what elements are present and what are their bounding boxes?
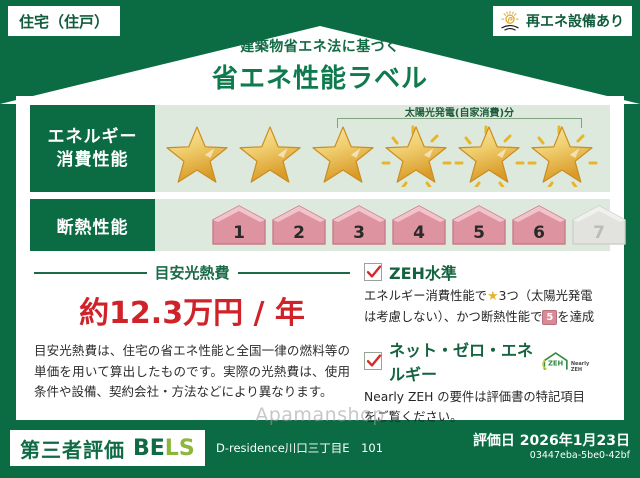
checkmark-icon [364, 263, 382, 281]
insulation-level-1: 1 [210, 204, 268, 246]
net-zero-title: ネット・ゼロ・エネルギー [389, 337, 535, 385]
utility-cost-heading: 目安光熱費 [34, 262, 350, 283]
star-4 [380, 121, 453, 187]
insulation-level-5: 5 [450, 204, 508, 246]
bels-en-part2: LS [165, 436, 195, 461]
insulation-level-3: 3 [330, 204, 388, 246]
insulation-levels-area: 1234567 [155, 199, 610, 251]
zeh-logo-subtext: Nearly ZEH [571, 362, 596, 373]
insulation-level-4: 4 [390, 204, 448, 246]
utility-cost-heading-text: 目安光熱費 [155, 262, 230, 283]
insulation-level-7: 7 [570, 204, 628, 246]
zeh-standard-title: ZEH水準 [389, 260, 457, 284]
rule-left [34, 272, 147, 274]
insulation-level-number: 4 [413, 223, 425, 243]
energy-label-line1: エネルギー [48, 126, 138, 149]
evaluation-date: 評価日 2026年1月23日 [473, 430, 630, 450]
label-body-card: エネルギー 消費性能 太陽光発電(自家消費)分 断熱性能 1234567 [16, 96, 624, 420]
insulation-level-number: 1 [233, 223, 245, 243]
page-title: 建築物省エネ法に基づく 省エネ性能ラベル [0, 36, 640, 95]
star-icon [385, 125, 447, 185]
zeh-house-logo-icon: ZEH Nearly ZEH [542, 349, 596, 373]
bels-logo: 第三者評価 BELS [10, 430, 205, 466]
bels-jp-text: 第三者評価 [20, 434, 125, 463]
star-icon [312, 125, 374, 185]
star-1 [161, 121, 234, 187]
rule-right [238, 272, 351, 274]
solar-bracket-caption: 太陽光発電(自家消費)分 [337, 104, 582, 119]
star-icon [531, 125, 593, 185]
star-6 [526, 121, 599, 187]
zeh-desc-part3: を達成 [557, 310, 594, 324]
title-main: 省エネ性能ラベル [0, 58, 640, 95]
energy-performance-label-cell: エネルギー 消費性能 [30, 105, 155, 192]
energy-performance-label: 住宅（住戸） 再エネ設備あり [0, 0, 640, 478]
bels-en-part1: BE [133, 436, 165, 461]
star-2 [234, 121, 307, 187]
property-name: D-residence川口三丁目E 101 [216, 440, 383, 456]
utility-cost-block: 目安光熱費 約12.3万円 / 年 目安光熱費は、住宅の省エネ性能と全国一律の燃… [34, 262, 350, 403]
inline-level-badge: 5 [542, 310, 557, 325]
star-3 [307, 121, 380, 187]
footer-bar: 第三者評価 BELS D-residence川口三丁目E 101 評価日 202… [0, 422, 640, 478]
energy-performance-row: エネルギー 消費性能 太陽光発電(自家消費)分 [30, 105, 610, 192]
insulation-performance-row: 断熱性能 1234567 [30, 199, 610, 251]
svg-text:ZEH: ZEH [548, 360, 564, 368]
insulation-level-number: 5 [473, 223, 485, 243]
insulation-label: 断熱性能 [57, 213, 129, 238]
insulation-level-number: 2 [293, 223, 305, 243]
bels-en-text: BELS [133, 436, 195, 461]
star-icon [166, 125, 228, 185]
zeh-standard-item: ZEH水準 エネルギー消費性能で★3つ（太陽光発電は考慮しない）、かつ断熱性能で… [364, 260, 596, 327]
insulation-level-6: 6 [510, 204, 568, 246]
insulation-level-2: 2 [270, 204, 328, 246]
star-rating [161, 121, 599, 187]
insulation-level-list: 1234567 [210, 204, 628, 246]
star-5 [453, 121, 526, 187]
energy-label-line2: 消費性能 [57, 149, 129, 172]
zeh-standard-description: エネルギー消費性能で★3つ（太陽光発電は考慮しない）、かつ断熱性能で5を達成 [364, 287, 596, 327]
net-zero-energy-item: ネット・ゼロ・エネルギー ZEH Nearly ZEH Nearly ZEH の… [364, 337, 596, 427]
star-icon [458, 125, 520, 185]
checkmark-icon [364, 352, 382, 370]
insulation-level-number: 7 [593, 223, 605, 243]
zeh-desc-part1: エネルギー消費性能で [364, 289, 487, 303]
inline-star-icon: ★ [487, 289, 499, 304]
star-icon [239, 125, 301, 185]
insulation-level-number: 3 [353, 223, 365, 243]
zeh-standard-title-row: ZEH水準 [364, 260, 596, 284]
insulation-level-number: 6 [533, 223, 545, 243]
utility-cost-note: 目安光熱費は、住宅の省エネ性能と全国一律の燃料等の単価を用いて算出したものです。… [34, 341, 350, 403]
utility-cost-value: 約12.3万円 / 年 [34, 288, 350, 332]
net-zero-title-row: ネット・ゼロ・エネルギー ZEH Nearly ZEH [364, 337, 596, 385]
evaluation-id: 03447eba-5be0-42bf [530, 450, 630, 461]
zeh-block: ZEH水準 エネルギー消費性能で★3つ（太陽光発電は考慮しない）、かつ断熱性能で… [364, 260, 596, 428]
title-subtitle: 建築物省エネ法に基づく [0, 36, 640, 56]
insulation-performance-label-cell: 断熱性能 [30, 199, 155, 251]
energy-stars-area: 太陽光発電(自家消費)分 [155, 105, 610, 192]
